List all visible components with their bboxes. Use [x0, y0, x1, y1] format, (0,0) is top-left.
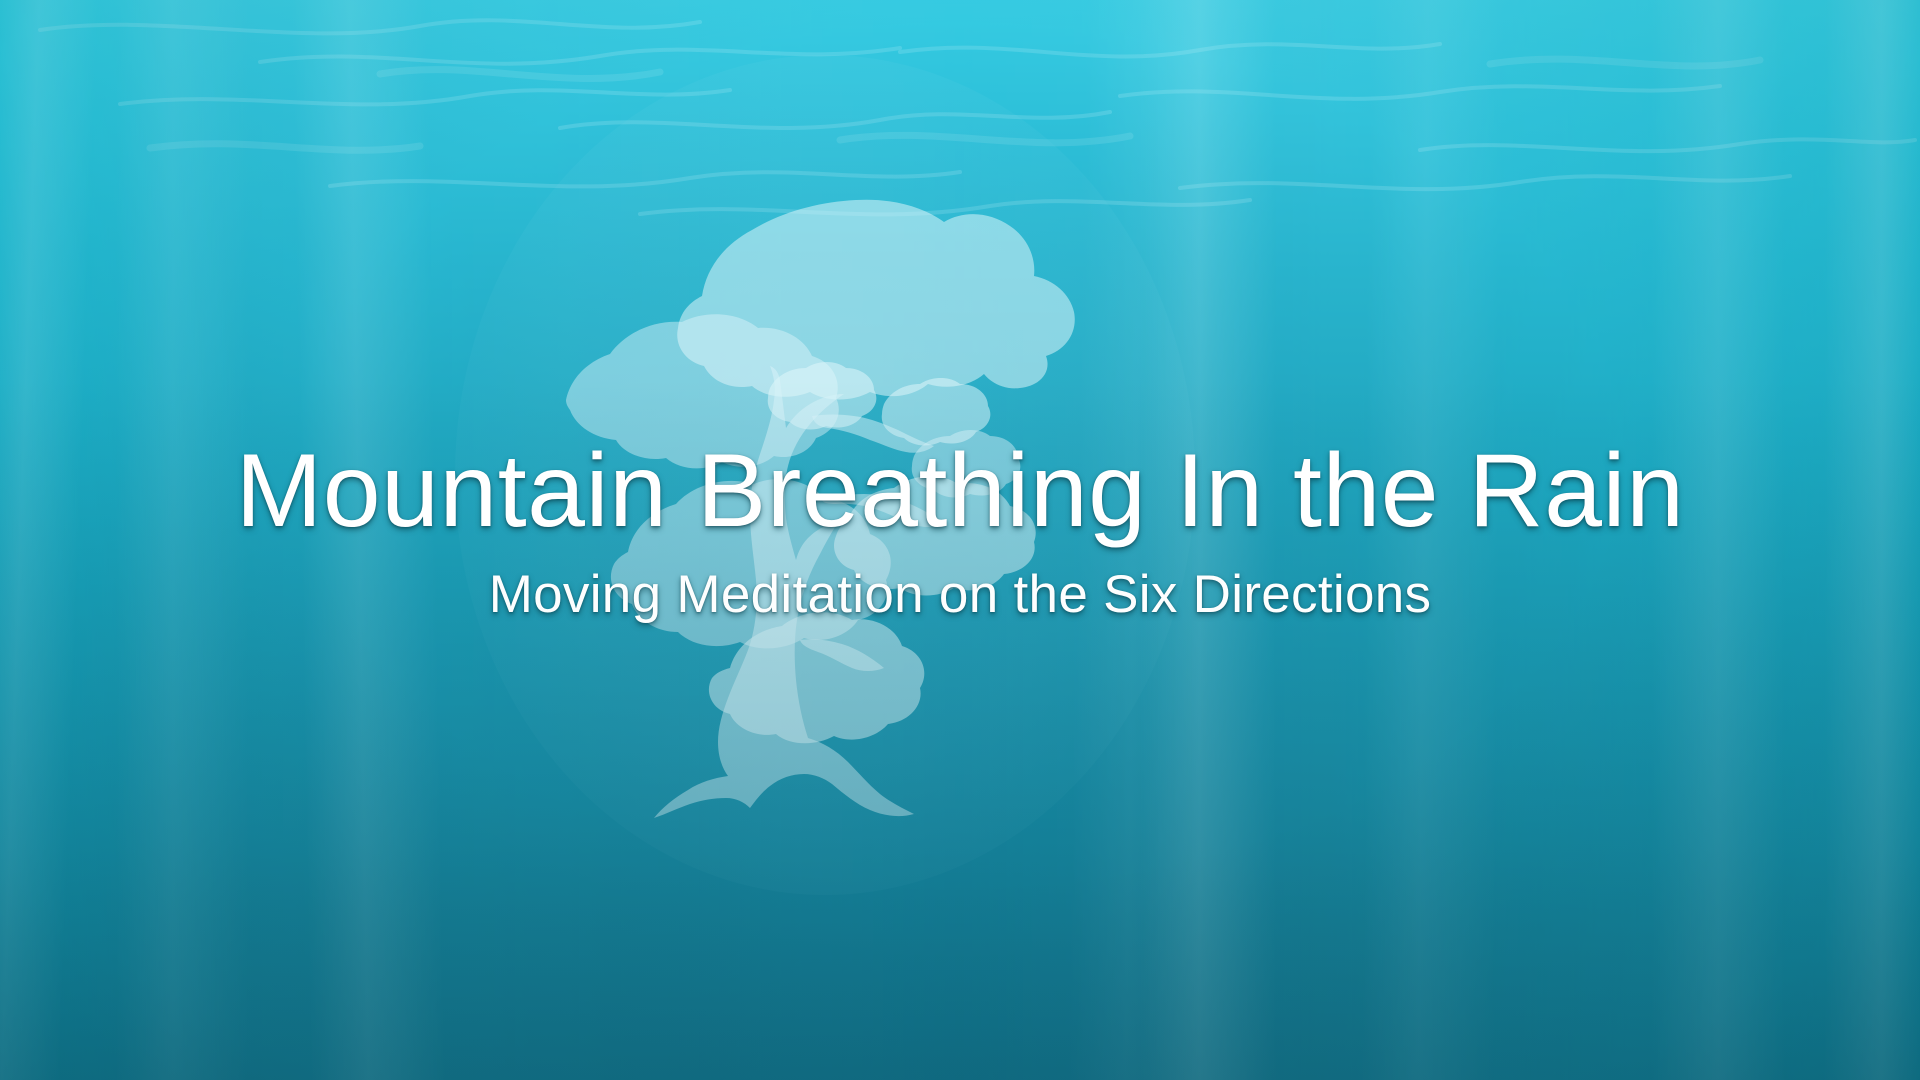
- background-horizontal-tint: [0, 0, 1920, 1080]
- video-title-card: Mountain Breathing In the Rain Moving Me…: [0, 0, 1920, 1080]
